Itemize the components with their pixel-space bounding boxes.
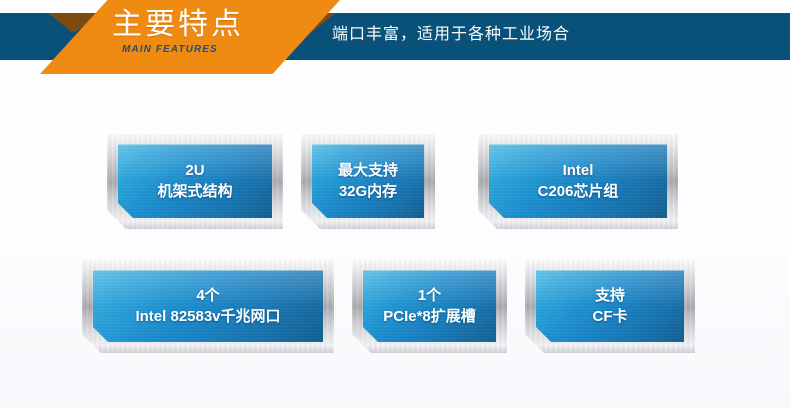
feature-chip-form-factor[interactable]: 2U 机架式结构	[107, 134, 283, 229]
feature-chip-memory[interactable]: 最大支持 32G内存	[301, 134, 435, 229]
chip-label: Intel C206芯片组	[478, 134, 678, 229]
chip-label-line2: PCIe*8扩展槽	[383, 307, 476, 327]
chip-label: 支持 CF卡	[525, 260, 695, 353]
page-title: 主要特点	[112, 9, 244, 41]
page-header: 主要特点 MAIN FEATURES 端口丰富，适用于各种工业场合	[0, 0, 790, 74]
chip-label-line1: Intel	[563, 161, 594, 181]
chip-label-line2: 机架式结构	[157, 182, 232, 202]
chip-label: 1个 PCIe*8扩展槽	[352, 260, 507, 353]
chip-label-line1: 4个	[196, 286, 219, 306]
chip-label: 最大支持 32G内存	[301, 134, 435, 229]
feature-chip-chipset[interactable]: Intel C206芯片组	[478, 134, 678, 229]
chip-label-line2: 32G内存	[339, 182, 397, 202]
chip-label: 4个 Intel 82583v千兆网口	[82, 260, 334, 353]
feature-chip-expansion-slot[interactable]: 1个 PCIe*8扩展槽	[352, 260, 507, 353]
feature-chip-cf-card[interactable]: 支持 CF卡	[525, 260, 695, 353]
feature-grid: 2U 机架式结构 最大支持 32G内存 Intel C206芯片组	[0, 74, 790, 408]
chip-label-line2: Intel 82583v千兆网口	[135, 307, 280, 327]
chip-label-line1: 1个	[418, 286, 441, 306]
chip-label-line1: 支持	[595, 286, 625, 306]
chip-label-line1: 2U	[185, 161, 204, 181]
page-subtitle-english: MAIN FEATURES	[122, 44, 218, 56]
feature-highlight-page: 主要特点 MAIN FEATURES 端口丰富，适用于各种工业场合 2U 机架式…	[0, 0, 790, 408]
chip-label-line2: CF卡	[593, 307, 628, 327]
chip-label-line1: 最大支持	[338, 161, 398, 181]
feature-chip-network-ports[interactable]: 4个 Intel 82583v千兆网口	[82, 260, 334, 353]
chip-label-line2: C206芯片组	[538, 182, 619, 202]
chip-label: 2U 机架式结构	[107, 134, 283, 229]
header-tagline: 端口丰富，适用于各种工业场合	[332, 24, 570, 46]
